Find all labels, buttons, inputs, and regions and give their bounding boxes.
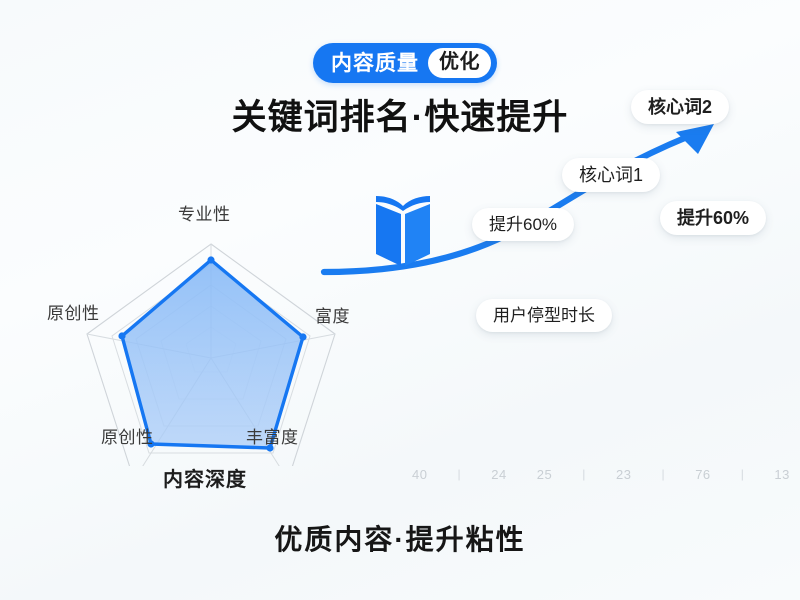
axis-tick: 13 — [774, 467, 789, 482]
bottom-axis-ticks: 40 | 24 25 | 23 | 76 | 13 — [412, 462, 790, 486]
poster-canvas: 内容质量 优化 关键词排名·快速提升 — [0, 0, 800, 600]
axis-tick: | — [662, 467, 666, 481]
page-subtitle: 优质内容·提升粘性 — [0, 518, 800, 558]
radar-axis-label-top: 专业性 — [178, 200, 231, 225]
radar-axis-label-left: 原创性 — [47, 299, 100, 324]
tag-dwell-time[interactable]: 用户停型时长 — [476, 299, 612, 332]
content-depth-label: 内容深度 — [163, 463, 247, 492]
axis-tick: 25 — [537, 467, 552, 482]
radar-axis-label-right: 富度 — [315, 302, 350, 327]
badge-main-label: 内容质量 — [331, 53, 428, 74]
badge-sub-label: 优化 — [428, 48, 491, 78]
radar-axis-label-bottom-left: 原创性 — [101, 423, 154, 448]
axis-tick: | — [582, 467, 586, 481]
tag-core-keyword-1[interactable]: 核心词1 — [562, 158, 660, 192]
axis-tick: 40 — [412, 467, 427, 482]
axis-tick: 24 — [491, 467, 506, 482]
axis-tick: | — [741, 467, 745, 481]
axis-tick: 76 — [695, 467, 710, 482]
open-book-icon — [372, 190, 434, 268]
radar-axis-label-bottom-right: 丰富度 — [246, 423, 299, 448]
tag-uplift-left[interactable]: 提升60% — [472, 208, 574, 241]
content-quality-badge[interactable]: 内容质量 优化 — [313, 43, 497, 83]
tag-uplift-right[interactable]: 提升60% — [660, 201, 766, 235]
axis-tick: | — [458, 467, 462, 481]
tag-core-keyword-2[interactable]: 核心词2 — [631, 90, 729, 124]
axis-tick: 23 — [616, 467, 631, 482]
